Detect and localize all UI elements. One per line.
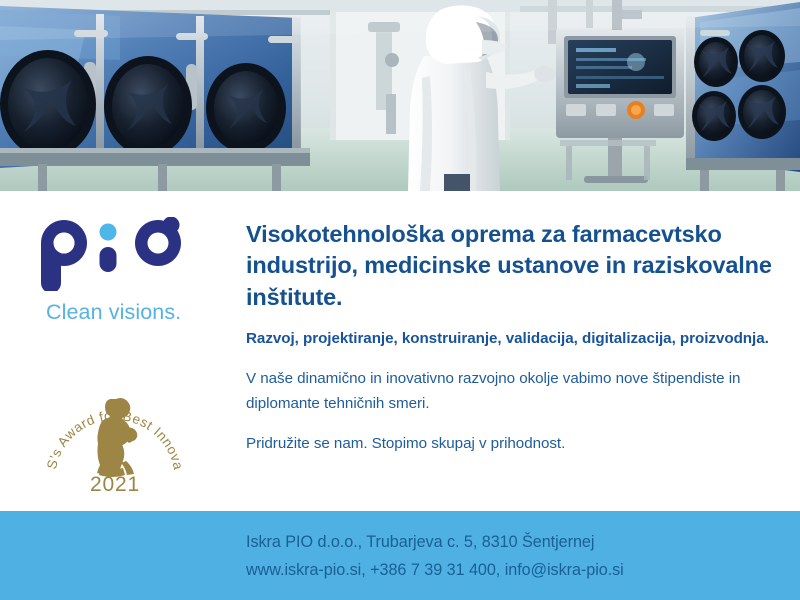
company-address-line: Iskra PIO d.o.o., Trubarjeva c. 5, 8310 …: [246, 529, 786, 557]
cleanroom-photo-illustration: [0, 0, 800, 191]
body-paragraph-1: V naše dinamično in inovativno razvojno …: [246, 367, 786, 416]
contact-footer-bar: Iskra PIO d.o.o., Trubarjeva c. 5, 8310 …: [0, 511, 800, 600]
logo-dot: [100, 224, 117, 241]
advertisement-poster: Clean visions. CCIS's Award for Best Inn…: [0, 0, 800, 600]
company-contact-line[interactable]: www.iskra-pio.si, +386 7 39 31 400, info…: [246, 557, 786, 585]
award-seal: CCIS's Award for Best Innovation 2021: [40, 373, 190, 495]
brand-tagline: Clean visions.: [46, 300, 218, 325]
body-paragraph-2: Pridružite se nam. Stopimo skupaj v prih…: [246, 432, 786, 457]
brand-logo-block: Clean visions.: [38, 217, 218, 325]
headline: Visokotehnološka oprema za farmacevtsko …: [246, 219, 786, 313]
hero-photo: [0, 0, 800, 191]
content-area: Clean visions. CCIS's Award for Best Inn…: [0, 191, 800, 511]
award-year: 2021: [90, 473, 140, 495]
contact-details: Iskra PIO d.o.o., Trubarjeva c. 5, 8310 …: [246, 529, 786, 585]
pio-logo-icon: [38, 217, 198, 291]
subheadline: Razvoj, projektiranje, konstruiranje, va…: [246, 327, 786, 352]
ccis-award-seal-icon: CCIS's Award for Best Innovation 2021: [40, 373, 190, 495]
text-column: Visokotehnološka oprema za farmacevtsko …: [246, 219, 786, 456]
